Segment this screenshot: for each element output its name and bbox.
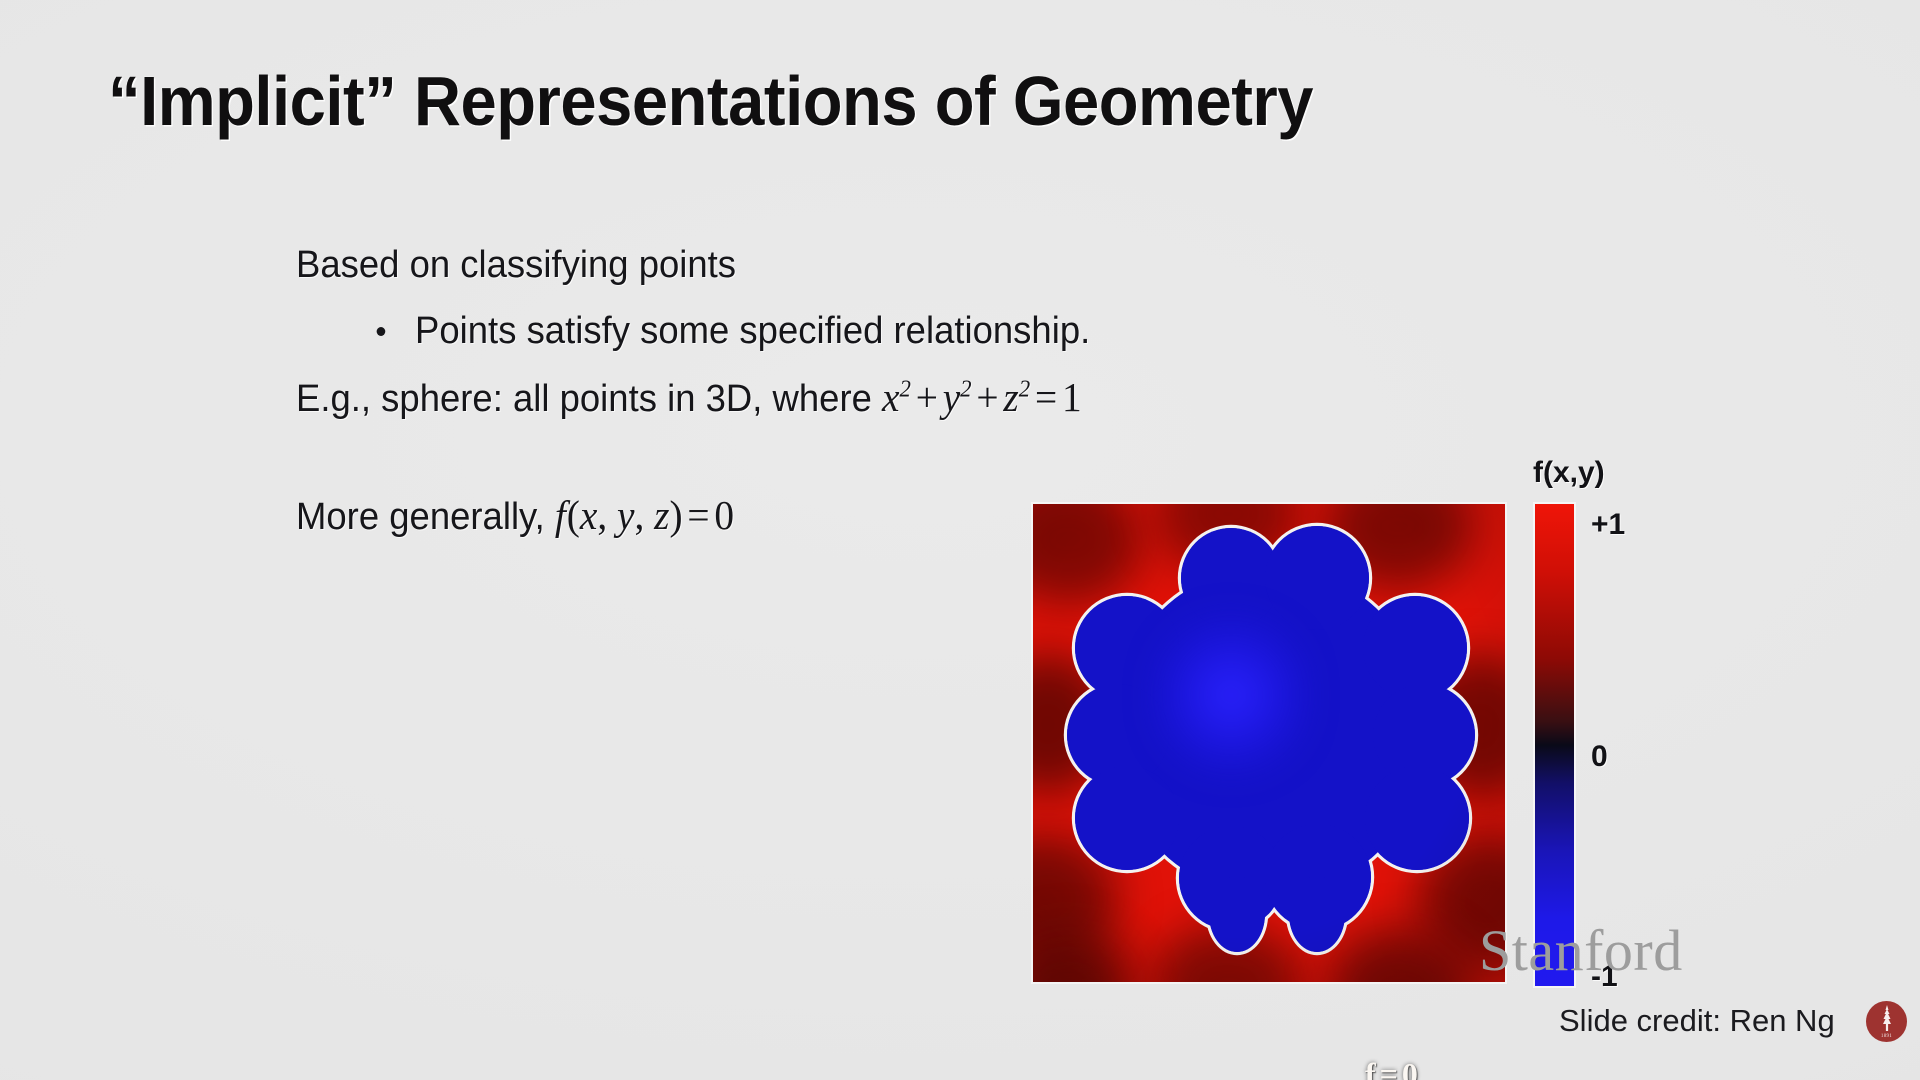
implicit-function-heatmap: f=0 [1033,504,1505,982]
sphere-equation: x2+y2+z2=1 [882,374,1082,420]
stanford-seal-logo: 1891 [1866,1001,1907,1042]
contour-label-value: 0 [1402,1056,1418,1080]
fn-arg-y: y [617,492,634,538]
slide-canvas: Stanford “Implicit” Representations of G… [0,0,1920,1080]
slide-credit: Slide credit: Ren Ng [1559,1003,1835,1039]
colorbar-tick-max: +1 [1591,508,1625,542]
colorbar-gradient [1535,504,1574,986]
eq-plus-2: + [972,374,1004,420]
eq-x: x [882,374,899,420]
colorbar-title: f(x,y) [1533,456,1605,490]
fn-f: f [555,492,567,538]
eq-value: 1 [1062,374,1082,420]
eq-z-exponent: 2 [1019,376,1030,402]
page-title: “Implicit” Representations of Geometry [108,62,1503,140]
sphere-text-prefix: E.g., sphere: all points in 3D, where [296,378,882,420]
blob-center-glow [1156,610,1306,780]
eq-y: y [943,374,960,420]
fn-value: 0 [714,492,734,538]
stanford-watermark: Stanford [1479,917,1683,984]
contour-label-equals: = [1376,1056,1402,1080]
fn-comma-1: , [597,492,617,538]
fn-equals: = [683,492,715,538]
heatmap-field [1033,504,1505,982]
contour-label-f: f [1365,1056,1376,1080]
fn-comma-2: , [635,492,655,538]
contour-label: f=0 [1365,1056,1418,1080]
bullet-dot-icon [377,327,386,336]
eq-x-exponent: 2 [899,376,910,402]
eq-y-exponent: 2 [960,376,971,402]
fn-close-paren: ) [670,492,683,538]
body-line-sphere: E.g., sphere: all points in 3D, where x2… [296,370,1429,426]
colorbar-tick-zero: 0 [1591,740,1608,774]
fn-arg-x: x [580,492,597,538]
blob-fill [1033,504,1505,982]
bullet-item-label: Points satisfy some specified relationsh… [415,310,1090,352]
body-line-classifying: Based on classifying points [296,238,1429,292]
general-text-prefix: More generally, [296,496,555,538]
eq-z: z [1003,374,1018,420]
general-equation: f(x, y, z)=0 [555,492,734,538]
slide-body: Based on classifying points Points satis… [296,238,1476,544]
stanford-tree-icon [1880,1005,1893,1035]
eq-equals: = [1030,374,1062,420]
list-item: Points satisfy some specified relationsh… [296,304,1429,358]
eq-plus-1: + [911,374,943,420]
fn-open-paren: ( [567,492,580,538]
seal-year-label: 1891 [1866,1034,1907,1039]
colorbar-group: f(x,y) +1 0 -1 [1535,504,1795,986]
fn-arg-z: z [654,492,669,538]
